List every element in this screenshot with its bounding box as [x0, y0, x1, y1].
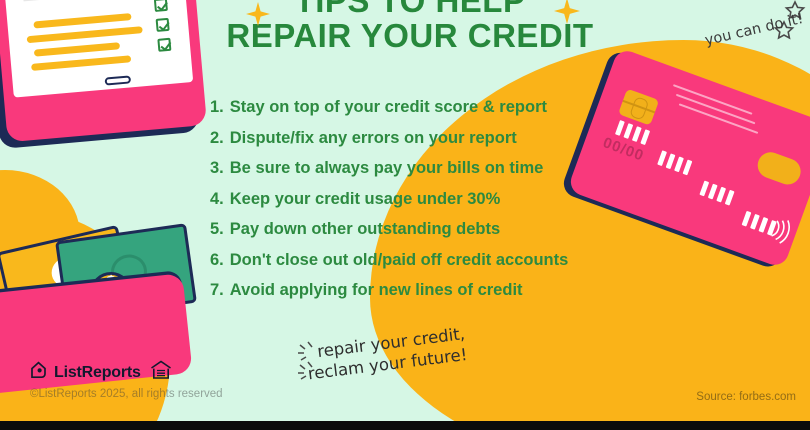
list-item-label: Keep your credit usage under 30%: [230, 184, 501, 215]
list-item-label: Be sure to always pay your bills on time: [230, 153, 544, 184]
copyright-text: ©ListReports 2025, all rights reserved: [30, 388, 223, 400]
sparkle-star-icon: [554, 0, 580, 29]
report-line-4: [31, 55, 131, 71]
list-item-label: Pay down other outstanding debts: [230, 214, 500, 245]
house-pin-icon: [30, 361, 47, 384]
list-item-number: 5.: [210, 214, 224, 245]
report-line-3: [34, 42, 120, 56]
list-item-label: Avoid applying for new lines of credit: [230, 275, 523, 306]
brand-name-label: ListReports: [54, 364, 141, 382]
equal-housing-opportunity-icon: [150, 360, 172, 385]
list-item: 6. Don't close out old/paid off credit a…: [210, 245, 630, 276]
tablet-illustration: [0, 0, 210, 149]
list-item: 2. Dispute/fix any errors on your report: [210, 123, 630, 154]
tablet-screen: [0, 0, 193, 98]
list-item-number: 4.: [210, 184, 224, 215]
list-item-number: 7.: [210, 275, 224, 306]
list-item-label: Dispute/fix any errors on your report: [230, 123, 517, 154]
list-item: 5. Pay down other outstanding debts: [210, 214, 630, 245]
list-item-number: 1.: [210, 92, 224, 123]
list-item: 7. Avoid applying for new lines of credi…: [210, 275, 630, 306]
list-item: 1. Stay on top of your credit score & re…: [210, 92, 630, 123]
card-oval-mark: [754, 149, 804, 188]
list-item-number: 3.: [210, 153, 224, 184]
tips-list: 1. Stay on top of your credit score & re…: [210, 92, 630, 306]
list-item-number: 2.: [210, 123, 224, 154]
card-chip-icon: [618, 89, 659, 126]
brand-logo[interactable]: ListReports: [30, 361, 141, 384]
checked-checkbox-icon: [157, 38, 171, 52]
card-number-group: [657, 150, 692, 175]
checked-checkbox-icon: [154, 0, 168, 12]
infographic-canvas: TIPS TO HELP REPAIR YOUR CREDIT 1. Stay …: [0, 0, 810, 430]
checked-checkbox-icon: [156, 18, 170, 32]
source-label: Source: forbes.com: [696, 391, 796, 403]
tablet-home-button: [105, 75, 132, 85]
card-number-group: [699, 181, 734, 206]
sparkle-star-icon: [246, 2, 270, 31]
credit-score-gauge-icon: [17, 0, 169, 2]
report-line-2: [27, 26, 143, 43]
list-item-label: Don't close out old/paid off credit acco…: [230, 245, 569, 276]
bottom-black-bar: [0, 421, 810, 430]
list-item-label: Stay on top of your credit score & repor…: [230, 92, 547, 123]
heading-block: TIPS TO HELP REPAIR YOUR CREDIT: [200, 0, 620, 54]
report-line-1: [33, 13, 131, 29]
list-item-number: 6.: [210, 245, 224, 276]
